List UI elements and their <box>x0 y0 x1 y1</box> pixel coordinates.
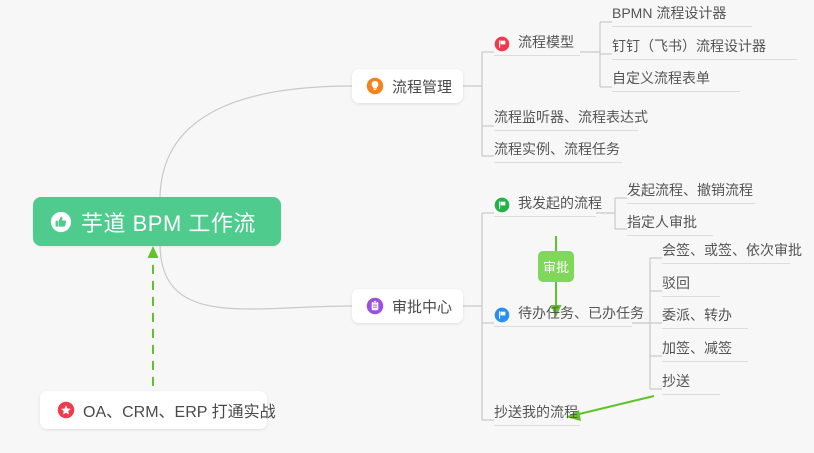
node-cc-label: 抄送 <box>662 371 690 391</box>
node-reject[interactable]: 驳回 <box>662 278 720 297</box>
node-process-listener-expression-label: 流程监听器、流程表达式 <box>494 107 648 127</box>
node-my-started-processes[interactable]: 我发起的流程 <box>494 197 596 217</box>
star-icon <box>57 401 75 419</box>
node-dingtalk-feishu-designer-label: 钉钉（飞书）流程设计器 <box>612 36 766 56</box>
node-cc-to-me-processes[interactable]: 抄送我的流程 <box>494 407 580 426</box>
node-custom-process-form[interactable]: 自定义流程表单 <box>612 73 740 92</box>
node-process-management[interactable]: 流程管理 <box>352 69 463 103</box>
node-process-instance-task[interactable]: 流程实例、流程任务 <box>494 144 622 163</box>
flag-icon <box>494 197 510 213</box>
node-countersign-or-sequential-label: 会签、或签、依次审批 <box>662 240 802 260</box>
node-countersign-or-sequential[interactable]: 会签、或签、依次审批 <box>662 245 790 264</box>
node-process-instance-task-label: 流程实例、流程任务 <box>494 139 620 159</box>
flag-icon <box>494 307 510 323</box>
root-node[interactable]: 芋道 BPM 工作流 <box>33 197 281 246</box>
node-add-remove-sign[interactable]: 加签、减签 <box>662 343 748 362</box>
arrow-oa-to-root <box>148 246 159 386</box>
thumbs-up-icon <box>50 211 72 233</box>
node-approval-center-label: 审批中心 <box>392 296 452 317</box>
node-cc[interactable]: 抄送 <box>662 376 720 395</box>
node-delegate-transfer[interactable]: 委派、转办 <box>662 310 748 329</box>
node-start-cancel-process[interactable]: 发起流程、撤销流程 <box>627 185 755 204</box>
approve-tag[interactable]: 审批 <box>538 251 574 282</box>
flag-icon <box>494 36 510 52</box>
node-my-started-processes-label: 我发起的流程 <box>518 193 602 213</box>
node-todo-done-tasks[interactable]: 待办任务、已办任务 <box>494 307 632 327</box>
mindmap-canvas: 芋道 BPM 工作流 流程管理 流程模型 BPMN 流程设计器 钉钉（飞书）流程… <box>0 0 814 453</box>
node-process-listener-expression[interactable]: 流程监听器、流程表达式 <box>494 112 638 131</box>
node-reject-label: 驳回 <box>662 273 690 293</box>
node-process-model-label: 流程模型 <box>518 32 574 52</box>
node-add-remove-sign-label: 加签、减签 <box>662 338 732 358</box>
clipboard-icon <box>366 297 384 315</box>
wire-root-to-process-mgmt <box>160 86 352 200</box>
node-oa-integration-label: OA、CRM、ERP 打通实战 <box>83 398 276 422</box>
node-oa-integration[interactable]: OA、CRM、ERP 打通实战 <box>40 391 267 429</box>
node-approval-center[interactable]: 审批中心 <box>352 289 463 323</box>
node-bpmn-designer-label: BPMN 流程设计器 <box>612 3 726 23</box>
wire-root-to-approval-center <box>160 243 352 309</box>
node-assigned-approver-label: 指定人审批 <box>627 212 697 232</box>
root-node-label: 芋道 BPM 工作流 <box>81 206 256 238</box>
lightbulb-icon <box>366 77 384 95</box>
node-process-model[interactable]: 流程模型 <box>494 36 580 56</box>
node-bpmn-designer[interactable]: BPMN 流程设计器 <box>612 8 752 27</box>
node-cc-to-me-processes-label: 抄送我的流程 <box>494 402 578 422</box>
node-todo-done-tasks-label: 待办任务、已办任务 <box>518 303 644 323</box>
node-start-cancel-process-label: 发起流程、撤销流程 <box>627 180 753 200</box>
node-delegate-transfer-label: 委派、转办 <box>662 305 732 325</box>
node-process-management-label: 流程管理 <box>392 76 452 97</box>
node-custom-process-form-label: 自定义流程表单 <box>612 68 710 88</box>
node-assigned-approver[interactable]: 指定人审批 <box>627 217 713 236</box>
node-dingtalk-feishu-designer[interactable]: 钉钉（飞书）流程设计器 <box>612 41 797 60</box>
approve-tag-label: 审批 <box>543 257 569 276</box>
